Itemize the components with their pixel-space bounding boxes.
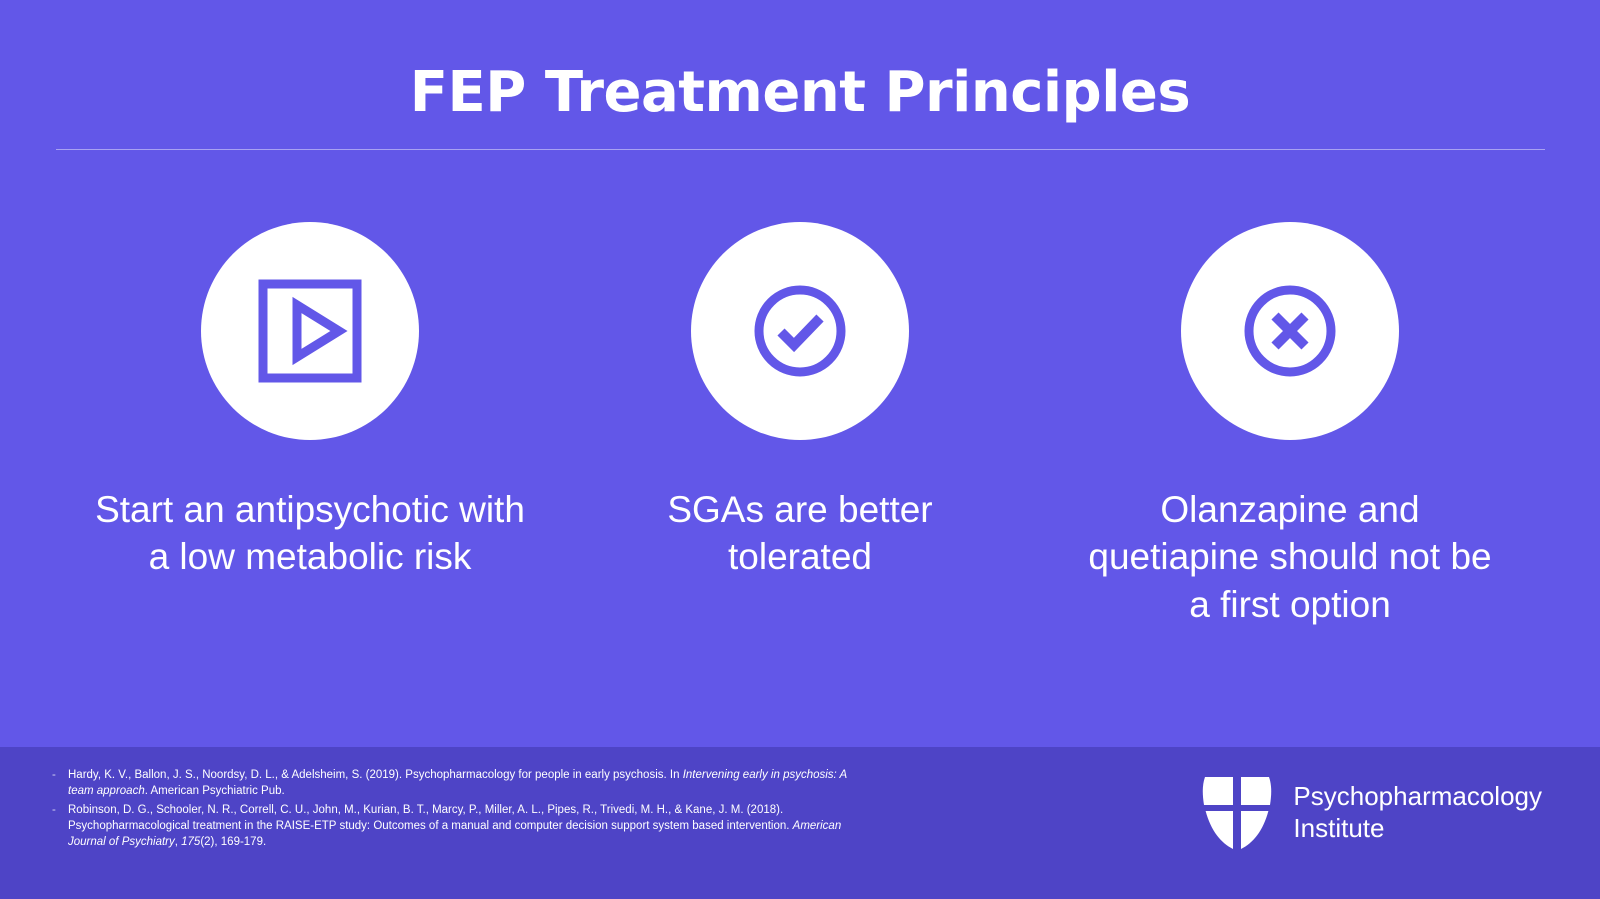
x-circle-icon <box>1237 278 1343 384</box>
logo-line-1: Psychopharmacology <box>1293 781 1542 811</box>
reference-bullet: - <box>52 767 68 800</box>
page-title: FEP Treatment Principles <box>0 62 1600 124</box>
principle-column-1: Start an antipsychotic with a low metabo… <box>70 222 550 581</box>
reference-item: - Hardy, K. V., Ballon, J. S., Noordsy, … <box>52 767 872 800</box>
icon-circle-1 <box>201 222 419 440</box>
reference-2-pre: Robinson, D. G., Schooler, N. R., Correl… <box>68 804 793 832</box>
reference-text-1: Hardy, K. V., Ballon, J. S., Noordsy, D.… <box>68 767 872 800</box>
logo-line-2: Institute <box>1293 813 1542 845</box>
reference-1-pre: Hardy, K. V., Ballon, J. S., Noordsy, D.… <box>68 769 683 781</box>
references-list: - Hardy, K. V., Ballon, J. S., Noordsy, … <box>52 767 872 853</box>
principle-caption-2: SGAs are better tolerated <box>615 486 985 581</box>
check-circle-icon <box>747 278 853 384</box>
shield-logo-icon <box>1201 771 1273 855</box>
title-block: FEP Treatment Principles <box>0 62 1600 124</box>
reference-2-italic2: 175 <box>181 836 200 848</box>
reference-text-2: Robinson, D. G., Schooler, N. R., Correl… <box>68 802 872 851</box>
slide-root: FEP Treatment Principles Start an antips… <box>0 0 1600 899</box>
icon-circle-2 <box>691 222 909 440</box>
reference-item: - Robinson, D. G., Schooler, N. R., Corr… <box>52 802 872 851</box>
logo-wordmark: Psychopharmacology Institute <box>1293 781 1542 844</box>
reference-bullet: - <box>52 802 68 851</box>
play-in-square-icon <box>257 278 363 384</box>
reference-1-post: . American Psychiatric Pub. <box>145 785 285 797</box>
title-divider <box>56 149 1545 150</box>
reference-2-post: (2), 169-179. <box>200 836 266 848</box>
principle-caption-3: Olanzapine and quetiapine should not be … <box>1075 486 1505 628</box>
icon-circle-3 <box>1181 222 1399 440</box>
principles-columns: Start an antipsychotic with a low metabo… <box>0 222 1600 628</box>
footer-bar: - Hardy, K. V., Ballon, J. S., Noordsy, … <box>0 747 1600 899</box>
principle-column-3: Olanzapine and quetiapine should not be … <box>1050 222 1530 628</box>
psychopharmacology-institute-logo: Psychopharmacology Institute <box>1201 771 1542 855</box>
principle-column-2: SGAs are better tolerated <box>560 222 1040 581</box>
principle-caption-1: Start an antipsychotic with a low metabo… <box>90 486 530 581</box>
